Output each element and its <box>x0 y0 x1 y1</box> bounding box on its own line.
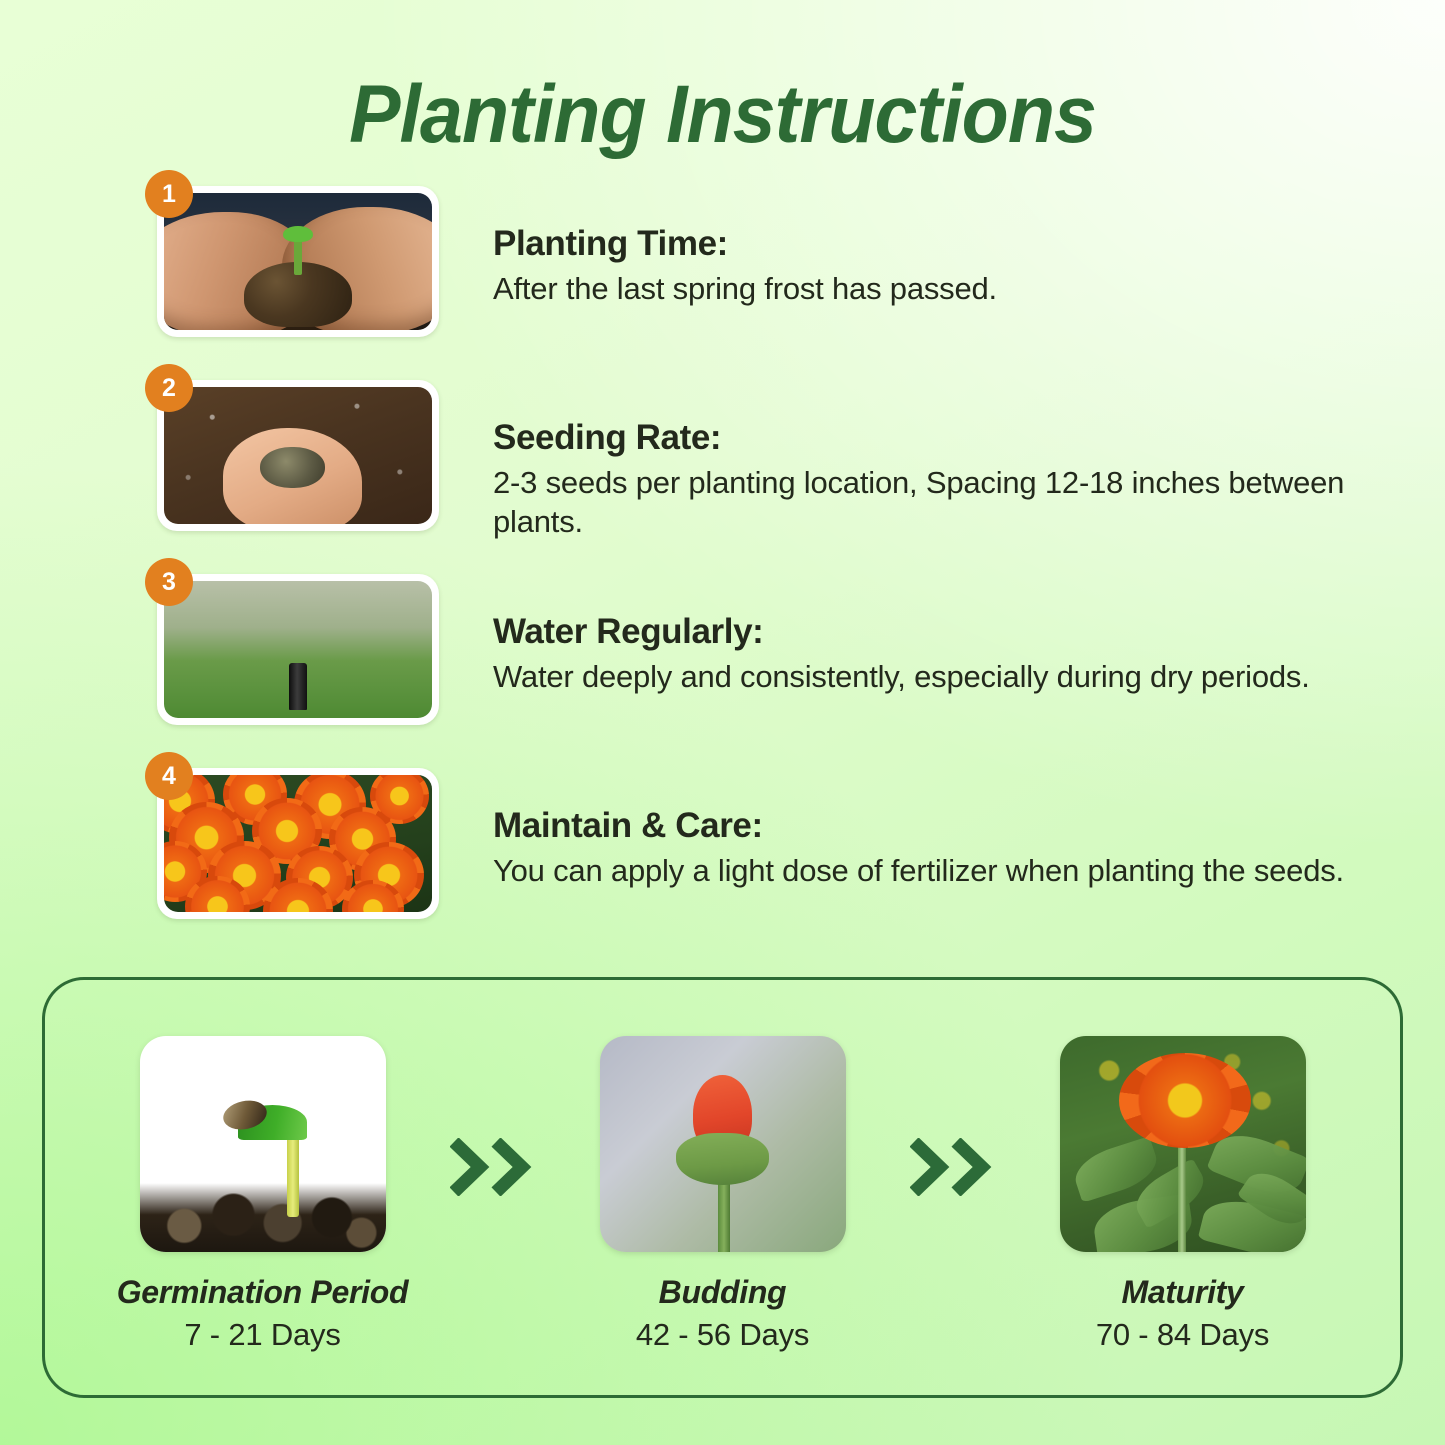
stage-label-budding: Budding <box>553 1274 893 1311</box>
step-2-body: 2-3 seeds per planting location, Spacing… <box>493 463 1373 542</box>
double-chevron-right-icon-2 <box>893 980 1013 1196</box>
step-1-photo-frame <box>157 186 439 337</box>
step-number-badge-1: 1 <box>145 170 193 218</box>
mature-orange-flower-photo <box>1060 1036 1306 1252</box>
step-4-thumbnail: 4 <box>157 768 439 919</box>
step-4-text: Maintain & Care: You can apply a light d… <box>493 768 1344 890</box>
timeline-stage-maturity: Maturity 70 - 84 Days <box>1013 980 1353 1353</box>
step-3-thumbnail: 3 <box>157 574 439 725</box>
stage-days-germination: 7 - 21 Days <box>93 1317 433 1353</box>
orange-flower-field-photo <box>164 775 432 912</box>
step-1-body: After the last spring frost has passed. <box>493 269 997 309</box>
step-2-photo-frame <box>157 380 439 531</box>
stage-label-maturity: Maturity <box>1013 1274 1353 1311</box>
step-2-heading: Seeding Rate: <box>493 418 1373 459</box>
step-number-badge-2: 2 <box>145 364 193 412</box>
step-number-badge-4: 4 <box>145 752 193 800</box>
page-title: Planting Instructions <box>43 74 1401 156</box>
step-1-thumbnail: 1 <box>157 186 439 337</box>
growth-timeline-panel: Germination Period 7 - 21 Days Budding 4… <box>42 977 1403 1398</box>
timeline-stage-germination: Germination Period 7 - 21 Days <box>93 980 433 1353</box>
step-item-1: 1 Planting Time: After the last spring f… <box>0 186 1445 358</box>
step-1-text: Planting Time: After the last spring fro… <box>493 186 997 308</box>
step-2-thumbnail: 2 <box>157 380 439 531</box>
step-3-text: Water Regularly: Water deeply and consis… <box>493 574 1310 696</box>
stage-label-germination: Germination Period <box>93 1274 433 1311</box>
hand-with-seeds-on-soil-photo <box>164 387 432 524</box>
double-chevron-right-icon <box>433 980 553 1196</box>
step-item-3: 3 Water Regularly: Water deeply and cons… <box>0 574 1445 746</box>
timeline-stage-budding: Budding 42 - 56 Days <box>553 980 893 1353</box>
step-item-4: 4 Maintain & Care: You can apply a light… <box>0 768 1445 940</box>
step-3-body: Water deeply and consistently, especiall… <box>493 657 1310 697</box>
stage-days-budding: 42 - 56 Days <box>553 1317 893 1353</box>
germinating-seed-sprout-photo <box>140 1036 386 1252</box>
step-4-body: You can apply a light dose of fertilizer… <box>493 851 1344 891</box>
step-number-badge-3: 3 <box>145 558 193 606</box>
hands-holding-soil-seedling-photo <box>164 193 432 330</box>
step-item-2: 2 Seeding Rate: 2-3 seeds per planting l… <box>0 380 1445 552</box>
step-3-photo-frame <box>157 574 439 725</box>
flower-bud-closeup-photo <box>600 1036 846 1252</box>
planting-steps-list: 1 Planting Time: After the last spring f… <box>0 186 1445 962</box>
stage-days-maturity: 70 - 84 Days <box>1013 1317 1353 1353</box>
step-4-photo-frame <box>157 768 439 919</box>
step-1-heading: Planting Time: <box>493 224 997 265</box>
sprinkler-watering-grass-photo <box>164 581 432 718</box>
step-4-heading: Maintain & Care: <box>493 806 1344 847</box>
step-3-heading: Water Regularly: <box>493 612 1310 653</box>
step-2-text: Seeding Rate: 2-3 seeds per planting loc… <box>493 380 1373 542</box>
